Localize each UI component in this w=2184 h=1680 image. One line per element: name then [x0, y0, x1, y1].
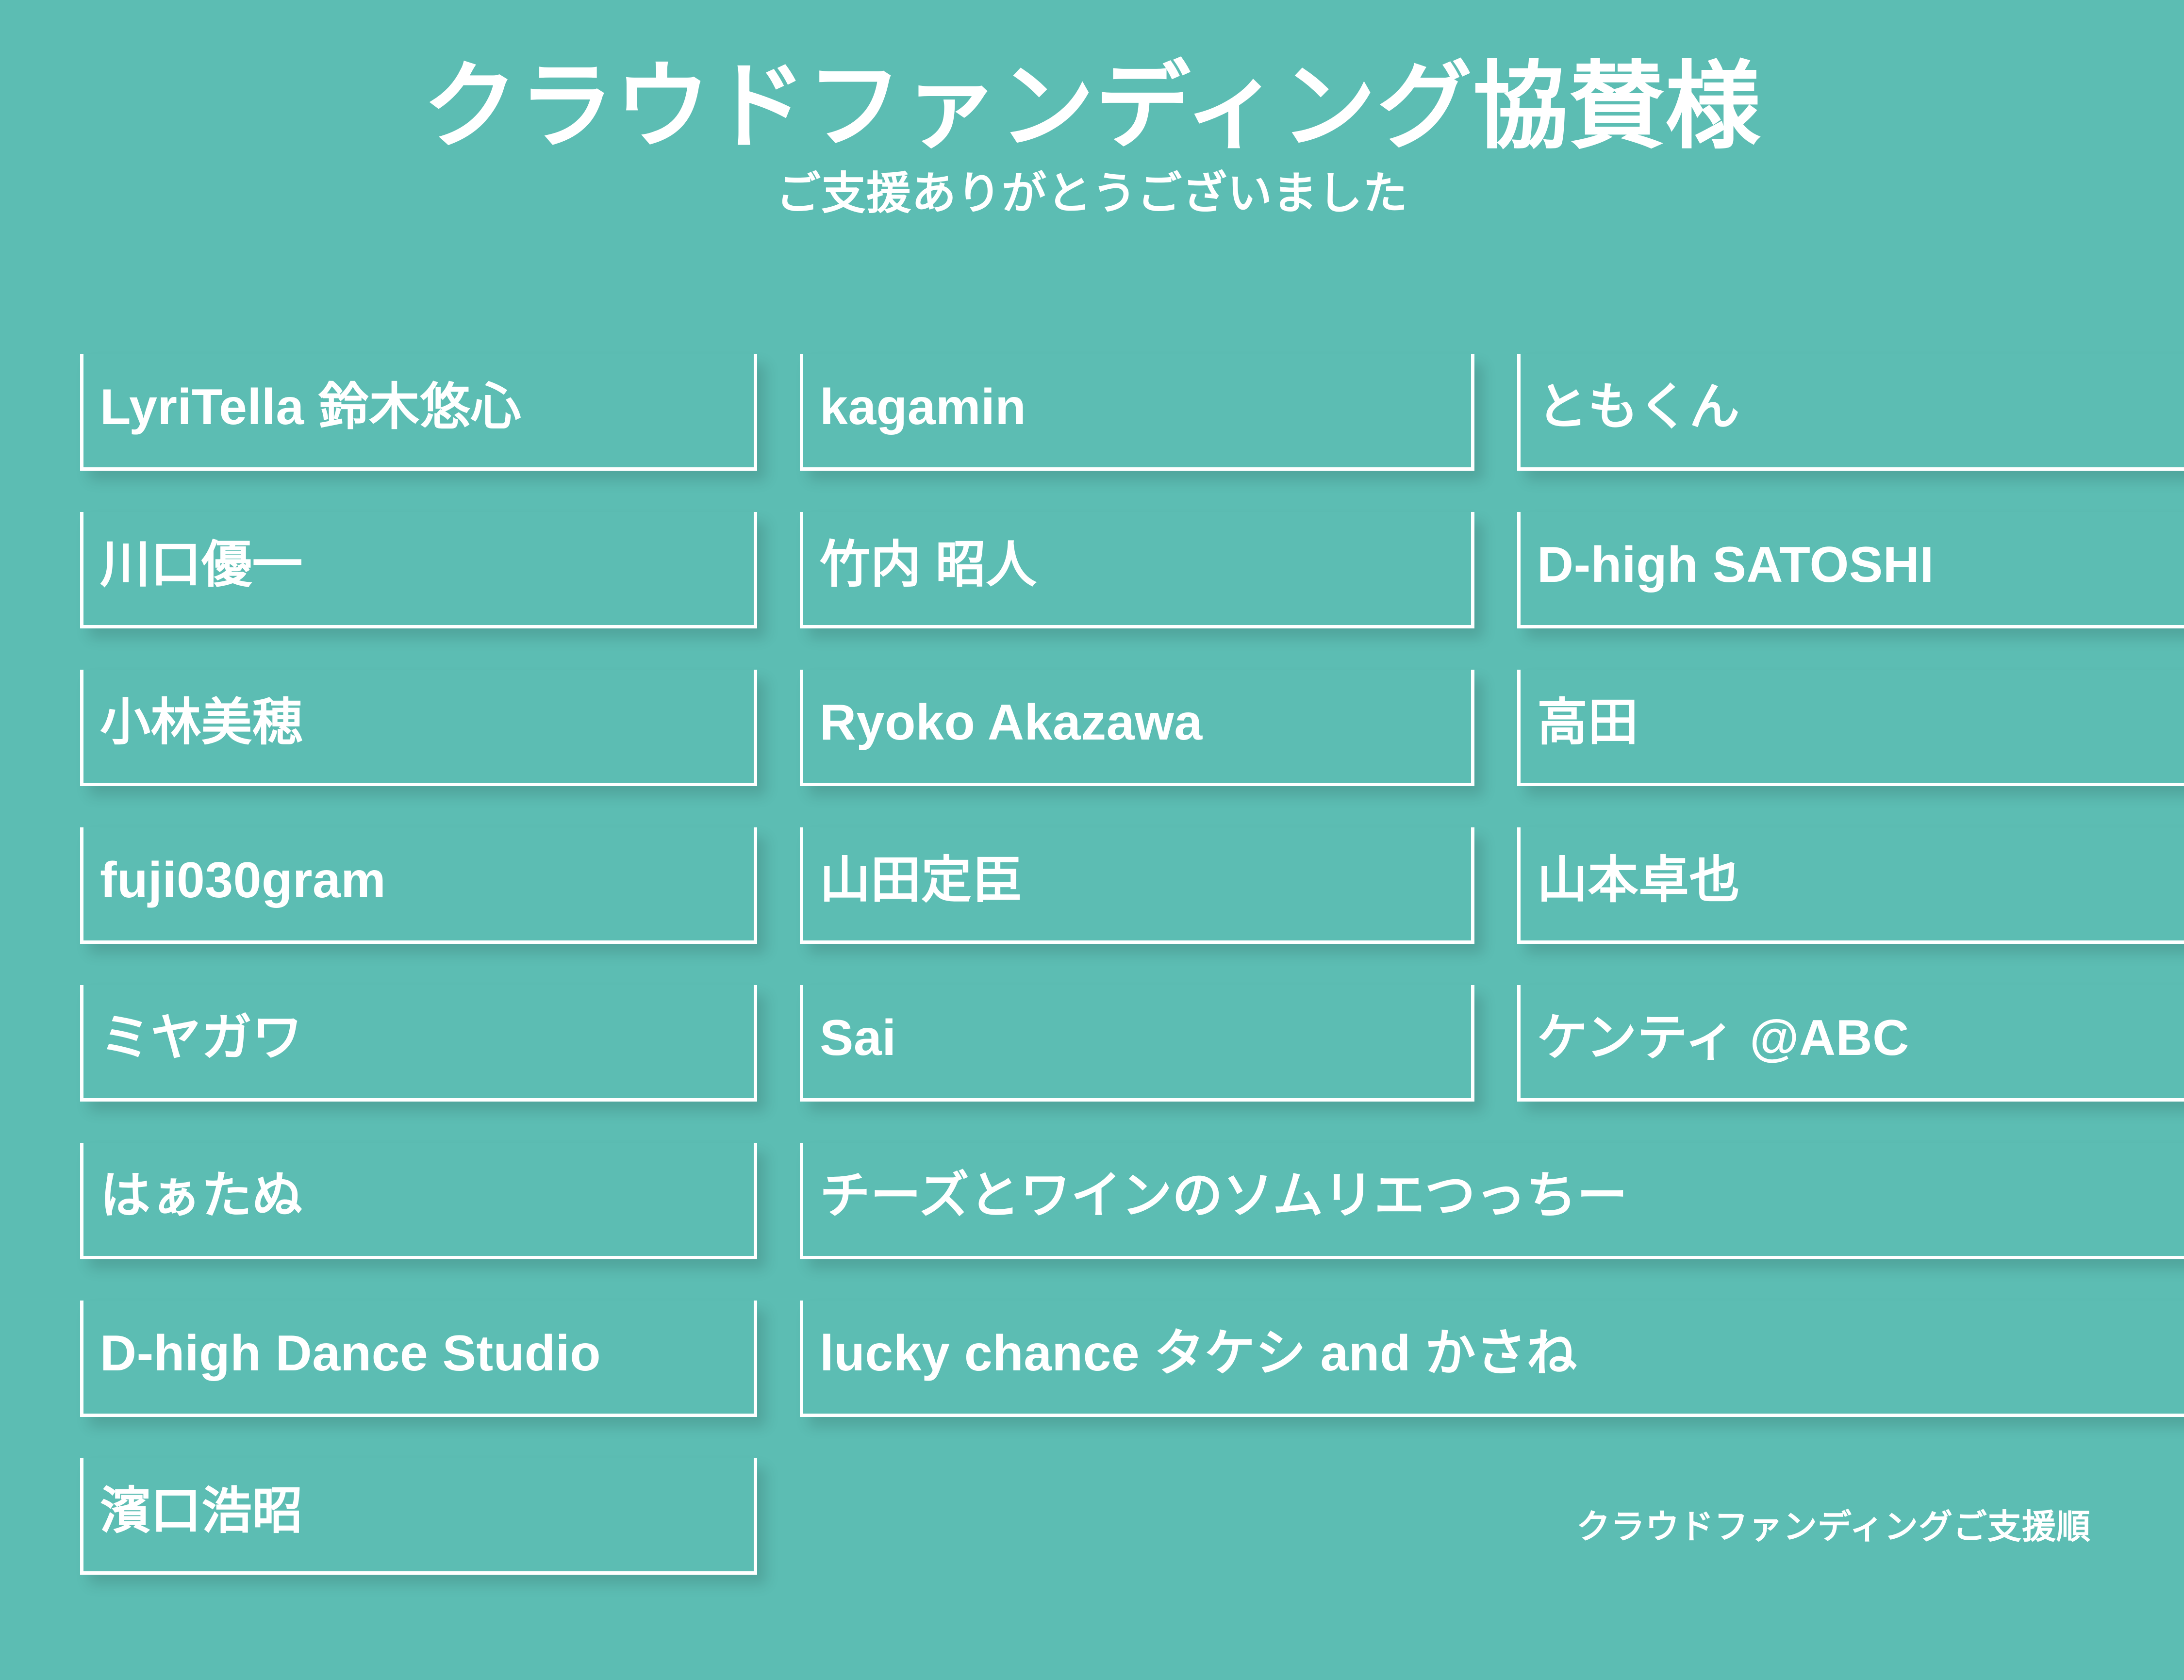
supporter-row: はぁたぬ チーズとワインのソムリエつっちー [80, 1143, 2099, 1259]
supporter-card: 高田 [1517, 670, 2184, 786]
supporter-name: D-high Dance Studio [100, 1327, 601, 1380]
supporter-name: lucky chance タケシ and かさね [820, 1327, 1577, 1380]
supporter-name: ミヤガワ [100, 1012, 303, 1065]
supporter-row: D-high Dance Studio lucky chance タケシ and… [80, 1301, 2099, 1417]
supporter-card: fuji030gram [80, 827, 757, 944]
supporter-card: ケンティ @ABC [1517, 985, 2184, 1102]
page-header: クラウドファンディング協賛様 ご支援ありがとうございました [0, 0, 2184, 220]
supporter-card: 川口優一 [80, 512, 757, 628]
supporter-card: D-high SATOSHI [1517, 512, 2184, 628]
supporter-row: ミヤガワ Sai ケンティ @ABC [80, 985, 2099, 1102]
supporter-card: 竹内 昭人 [800, 512, 1474, 628]
supporter-card: ミヤガワ [80, 985, 757, 1102]
supporter-name: ケンティ @ABC [1537, 1012, 1909, 1065]
supporter-name: 高田 [1537, 696, 1638, 749]
supporter-name: fuji030gram [100, 854, 386, 907]
supporter-row: LyriTella 鈴木悠心 kagamin ともくん [80, 354, 2099, 471]
supporter-card: はぁたぬ [80, 1143, 757, 1259]
supporter-name: 濱口浩昭 [100, 1485, 303, 1538]
page-subtitle: ご支援ありがとうございました [0, 167, 2184, 220]
supporter-name: kagamin [820, 381, 1026, 434]
supporter-name: Sai [820, 1012, 896, 1065]
supporter-card: 小林美穂 [80, 670, 757, 786]
supporter-card: LyriTella 鈴木悠心 [80, 354, 757, 471]
supporter-card: 山田定臣 [800, 827, 1474, 944]
supporter-name: 小林美穂 [100, 696, 303, 749]
supporter-card: D-high Dance Studio [80, 1301, 757, 1417]
supporter-name: ともくん [1537, 381, 1740, 434]
supporter-name: 竹内 昭人 [820, 539, 1037, 592]
supporter-card: 濱口浩昭 [80, 1458, 757, 1575]
supporter-card: kagamin [800, 354, 1474, 471]
supporter-card: 山本卓也 [1517, 827, 2184, 944]
supporter-row: 小林美穂 Ryoko Akazawa 高田 [80, 670, 2099, 786]
supporter-name: 山田定臣 [820, 854, 1023, 907]
supporter-name: 川口優一 [100, 539, 303, 592]
supporter-name: チーズとワインのソムリエつっちー [820, 1169, 1628, 1222]
supporter-row: fuji030gram 山田定臣 山本卓也 [80, 827, 2099, 944]
supporter-name: LyriTella 鈴木悠心 [100, 381, 521, 434]
page-title: クラウドファンディング協賛様 [0, 57, 2184, 156]
supporter-name: D-high SATOSHI [1537, 539, 1934, 592]
supporter-name: Ryoko Akazawa [820, 696, 1203, 749]
supporter-card-wide: チーズとワインのソムリエつっちー [800, 1143, 2184, 1259]
supporter-card: Ryoko Akazawa [800, 670, 1474, 786]
supporter-name: 山本卓也 [1537, 854, 1740, 907]
supporter-card-grid: LyriTella 鈴木悠心 kagamin ともくん 川口優一 竹内 昭人 D… [80, 354, 2099, 1575]
supporter-card: ともくん [1517, 354, 2184, 471]
grid-spacer [800, 1458, 1474, 1575]
footer-note: クラウドファンディングご支援順 [1576, 1499, 2091, 1548]
supporter-card: Sai [800, 985, 1474, 1102]
supporter-row: 川口優一 竹内 昭人 D-high SATOSHI [80, 512, 2099, 628]
supporter-name: はぁたぬ [100, 1169, 303, 1222]
supporter-card-wide: lucky chance タケシ and かさね [800, 1301, 2184, 1417]
